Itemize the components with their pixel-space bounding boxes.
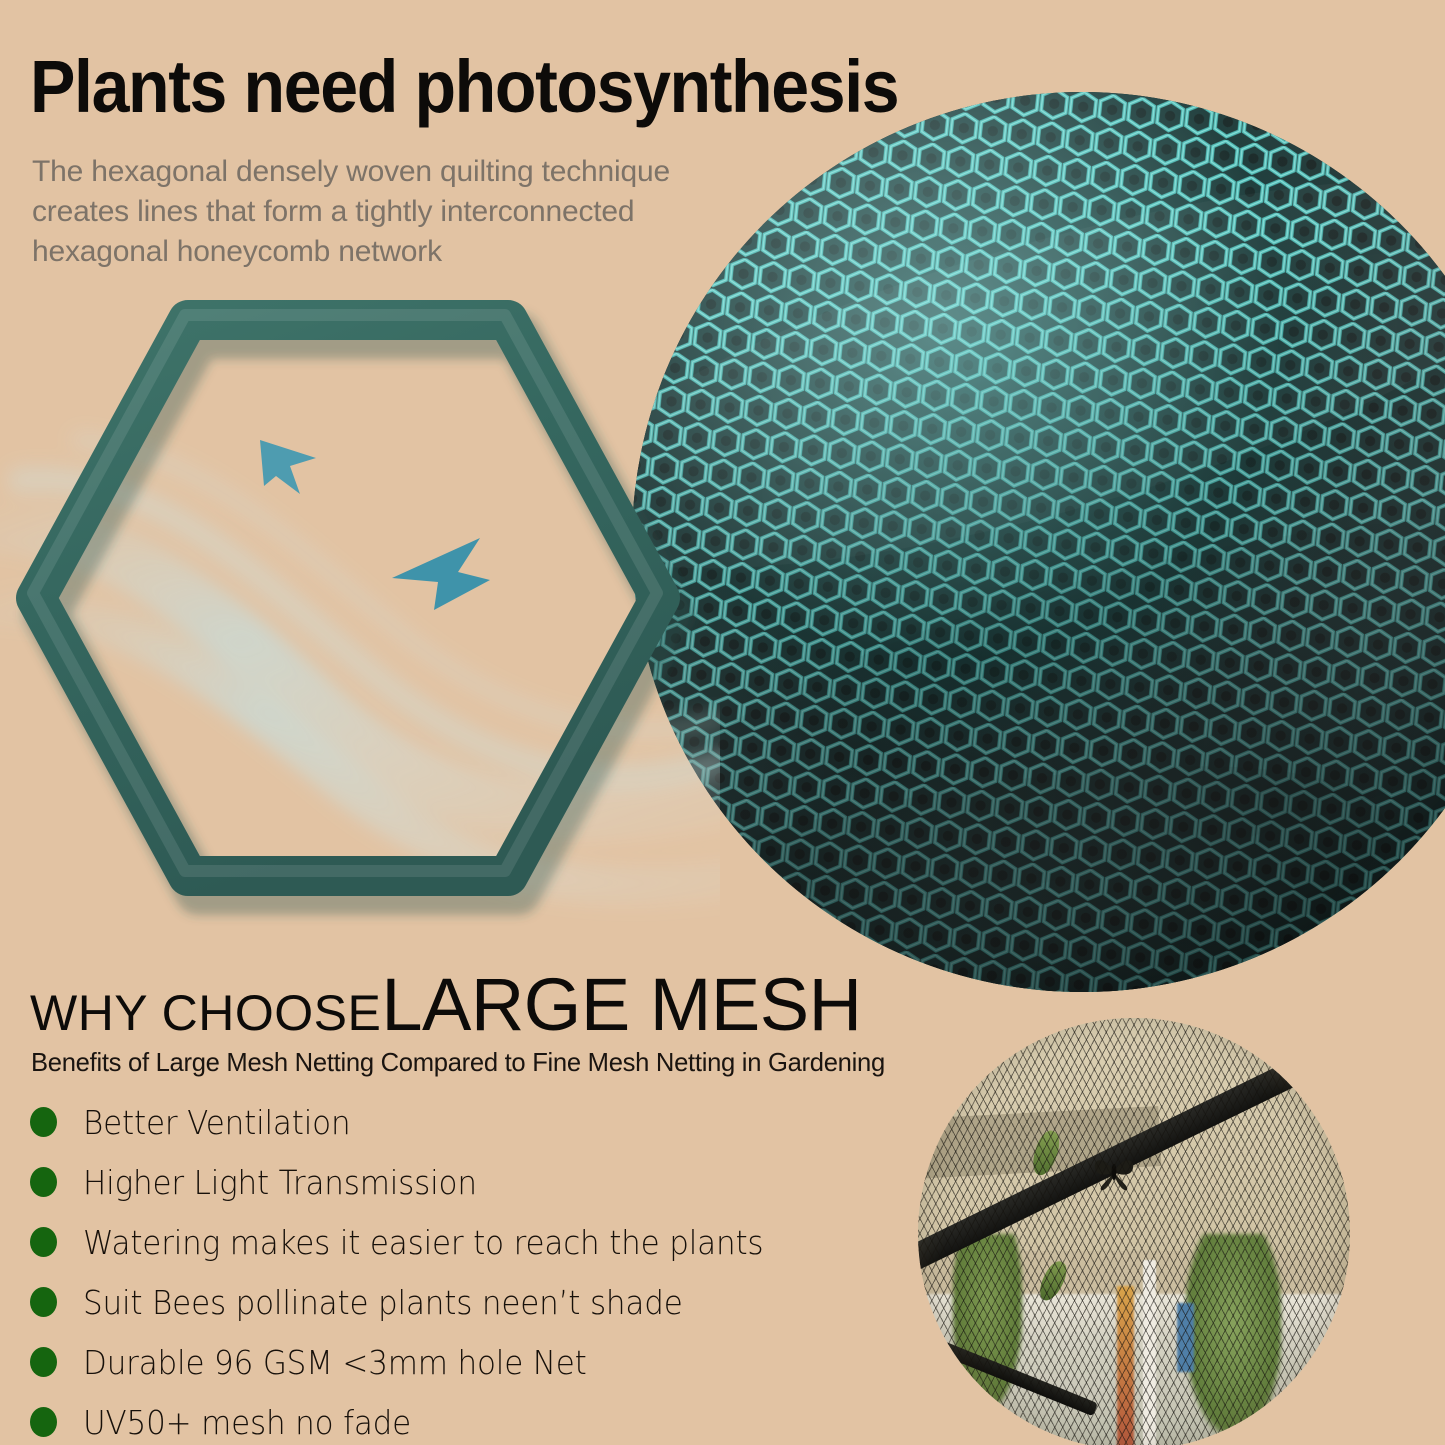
list-item-label: UV50+ mesh no fade (83, 1403, 411, 1442)
bullet-dot-icon (30, 1167, 57, 1197)
list-item: Better Ventilation (30, 1092, 870, 1152)
list-item-label: Better Ventilation (83, 1103, 350, 1142)
mesh-fabric-photo (632, 92, 1445, 992)
benefits-list: Better Ventilation Higher Light Transmis… (30, 1092, 870, 1445)
fine-mesh-overlay (918, 1018, 1350, 1445)
list-item-label: Suit Bees pollinate plants neen’t shade (83, 1283, 683, 1322)
mesh-weave-graphic (632, 92, 1445, 992)
garden-net-photo-content (918, 1018, 1350, 1445)
list-item-label: Durable 96 GSM <3mm hole Net (83, 1343, 587, 1382)
list-item: Durable 96 GSM <3mm hole Net (30, 1332, 870, 1392)
infographic-page: Plants need photosynthesis The hexagonal… (0, 0, 1445, 1445)
list-item: UV50+ mesh no fade (30, 1392, 870, 1445)
bullet-dot-icon (30, 1287, 57, 1317)
bullet-dot-icon (30, 1347, 57, 1377)
list-item: Watering makes it easier to reach the pl… (30, 1212, 870, 1272)
bullet-dot-icon (30, 1407, 57, 1437)
list-item-label: Watering makes it easier to reach the pl… (83, 1223, 763, 1262)
airflow-arrow-lower (392, 538, 490, 610)
garden-net-photo (918, 1018, 1350, 1445)
bullet-dot-icon (30, 1227, 57, 1257)
hexagon-graphic (0, 280, 720, 960)
section-heading-small: WHY CHOOSE (30, 985, 381, 1041)
bullet-dot-icon (30, 1107, 57, 1137)
section-heading-large: LARGE MESH (381, 963, 861, 1046)
airflow-arrow-upper (260, 440, 316, 494)
list-item: Higher Light Transmission (30, 1152, 870, 1212)
section-heading: WHY CHOOSELARGE MESH (30, 962, 862, 1047)
section-subtitle: Benefits of Large Mesh Netting Compared … (31, 1047, 885, 1078)
list-item: Suit Bees pollinate plants neen’t shade (30, 1272, 870, 1332)
hexagon-airflow-diagram (0, 280, 720, 960)
list-item-label: Higher Light Transmission (83, 1163, 477, 1202)
